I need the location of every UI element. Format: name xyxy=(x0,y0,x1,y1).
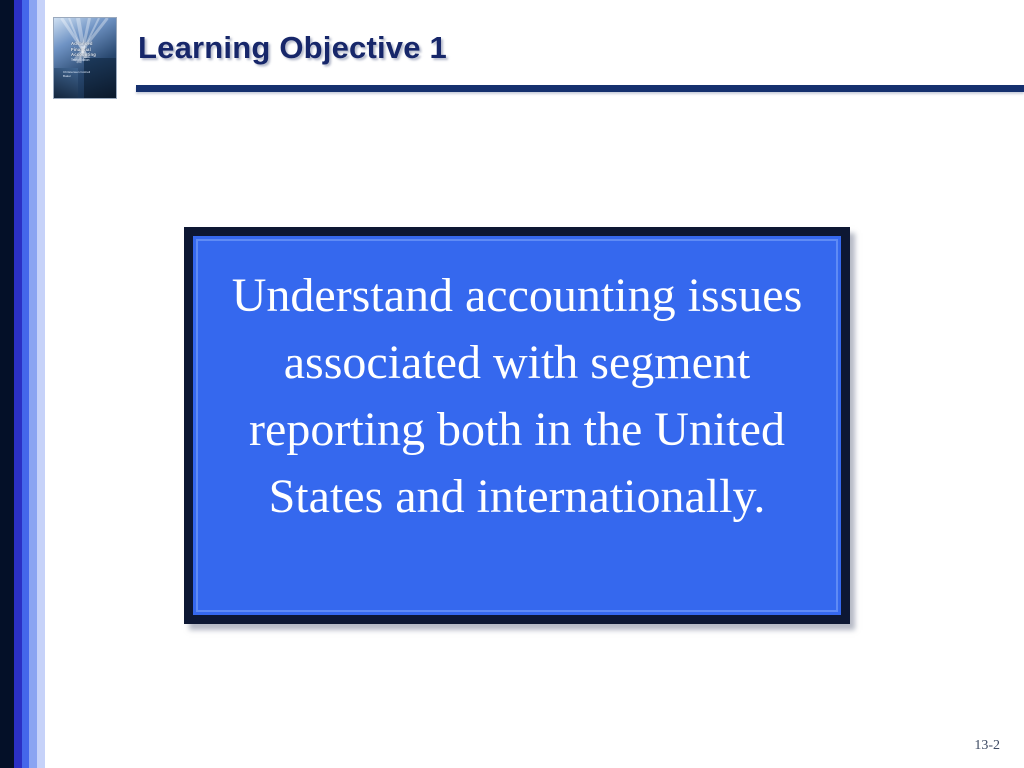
cover-building-right xyxy=(84,58,117,99)
left-stripe-band xyxy=(0,0,46,768)
page-title: Learning Objective 1 xyxy=(138,30,447,66)
stripe-light-blue xyxy=(29,0,37,768)
book-cover-icon: Advanced Financial Accounting Tenth Edit… xyxy=(53,17,117,99)
stripe-indigo xyxy=(14,0,22,768)
learning-objective-box: Understand accounting issues associated … xyxy=(184,227,850,624)
book-cover-title: Advanced Financial Accounting xyxy=(71,41,111,58)
slide-number: 13-2 xyxy=(974,738,1000,754)
title-divider xyxy=(136,85,1024,92)
stripe-blue xyxy=(22,0,29,768)
slide-canvas: Advanced Financial Accounting Tenth Edit… xyxy=(0,0,1024,768)
book-cover-authors: Christensen Cottrell Baker xyxy=(63,70,97,78)
stripe-navy xyxy=(0,0,14,768)
stripe-pale-blue xyxy=(37,0,45,768)
learning-objective-text: Understand accounting issues associated … xyxy=(203,262,831,530)
book-cover-edition: Tenth Edition xyxy=(71,58,89,62)
